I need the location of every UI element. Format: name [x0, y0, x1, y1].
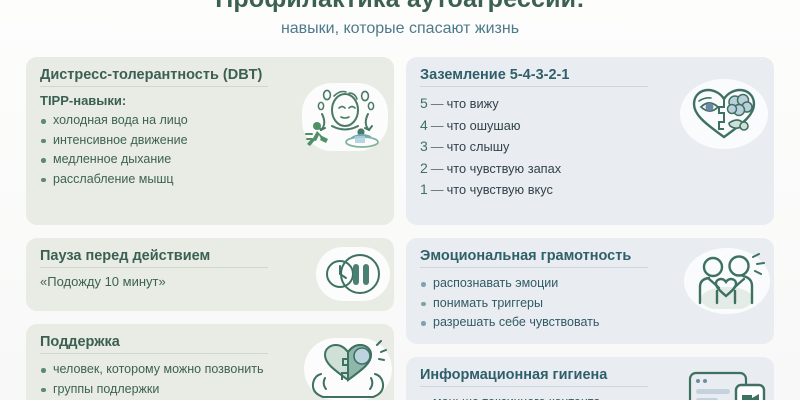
left-column: Дистресс-толерантность (DBT) TIPP-навыки… [26, 57, 394, 400]
item-number: 1 [420, 181, 428, 197]
item-text: что чувствую запах [447, 161, 562, 176]
clock-pause-icon [316, 247, 390, 301]
item-number: 3 [420, 138, 428, 154]
item-dash: — [431, 118, 444, 133]
divider [420, 86, 648, 87]
card-emotional-literacy: Эмоциональная грамотность распознавать э… [406, 238, 774, 344]
page-title: Профилактика аутоагрессии: [0, 0, 800, 14]
divider [40, 353, 268, 354]
item-text: что вижу [447, 96, 499, 111]
card-pause-before-action: Пауза перед действием «Подожду 10 минут» [26, 238, 394, 311]
divider [40, 86, 268, 87]
list-item: расслабление мышц [40, 170, 380, 190]
divider [420, 267, 648, 268]
item-text: что чувствую вкус [447, 182, 553, 197]
item-dash: — [431, 182, 444, 197]
right-column: Заземление 5-4-3-2-1 5—что вижу 4—что ош… [406, 57, 774, 400]
infographic-page: Профилактика аутоагрессии: навыки, котор… [0, 0, 800, 400]
item-number: 5 [420, 95, 428, 111]
divider [40, 267, 268, 268]
two-people-heart-icon [684, 248, 770, 314]
card-grounding: Заземление 5-4-3-2-1 5—что вижу 4—что ош… [406, 57, 774, 225]
heart-senses-icon [680, 79, 768, 149]
screen-media-icon [684, 367, 768, 400]
list-item: разрешать себе чувствовать [420, 313, 760, 333]
card-support: Поддержка человек, которому можно позвон… [26, 324, 394, 400]
divider [420, 386, 648, 387]
card-distress-tolerance: Дистресс-толерантность (DBT) TIPP-навыки… [26, 57, 394, 225]
item-text: что слышу [447, 139, 510, 154]
item-dash: — [431, 161, 444, 176]
stressed-person-icon [302, 83, 388, 151]
item-number: 2 [420, 160, 428, 176]
list-item: 2—что чувствую запах [420, 158, 760, 180]
item-text: что ошушаю [447, 118, 521, 133]
list-item: 1—что чувствую вкус [420, 179, 760, 201]
item-dash: — [431, 139, 444, 154]
header: Профилактика аутоагрессии: навыки, котор… [0, 0, 800, 40]
item-dash: — [431, 96, 444, 111]
heart-in-hands-icon [304, 338, 392, 400]
item-number: 4 [420, 117, 428, 133]
card-information-hygiene: Информационная гигиена меньше токсичного… [406, 357, 774, 400]
card-title: Дистресс-толерантность (DBT) [40, 67, 380, 83]
page-subtitle: навыки, которые спасают жизнь [0, 18, 800, 40]
list-item: медленное дыхание [40, 150, 380, 170]
